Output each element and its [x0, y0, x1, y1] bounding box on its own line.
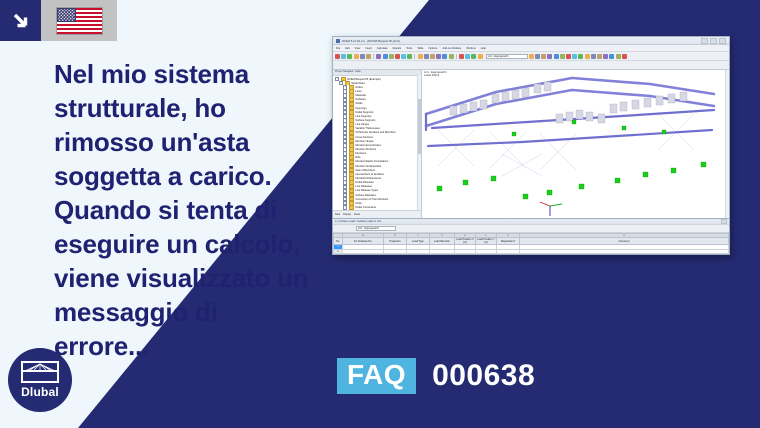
row-header: 3 — [334, 254, 343, 255]
flag-stars — [58, 9, 75, 21]
navigator-tab-views[interactable]: Views — [354, 213, 360, 216]
toolbar-button-4[interactable] — [354, 54, 359, 59]
menu-item-results[interactable]: Results — [393, 47, 402, 50]
node-label: Nodal Constraints — [355, 206, 376, 209]
menu-item-help[interactable]: Help — [481, 47, 486, 50]
toolbar-button-18[interactable] — [449, 54, 454, 59]
toolbar-button-5[interactable] — [360, 54, 365, 59]
toolbar-button-8[interactable] — [383, 54, 388, 59]
node-label: Member Hinges — [355, 140, 373, 143]
node-label: Orthotropic Surfaces and Members — [355, 131, 395, 134]
secondary-toolbar[interactable] — [333, 61, 729, 70]
th-load-direction: Load Direction — [430, 238, 455, 245]
toolbar-button-19[interactable] — [459, 54, 464, 59]
toolbar-button-9[interactable] — [389, 54, 394, 59]
th-load-pos-y: Load Position Y [m] — [476, 238, 497, 245]
toolbar-button-post-13[interactable] — [603, 54, 608, 59]
table-cell[interactable] — [430, 254, 455, 255]
toolbar-button-post-3[interactable] — [541, 54, 546, 59]
node-label: Grids — [355, 202, 361, 205]
toolbar-button-14[interactable] — [424, 54, 429, 59]
dlubal-logo[interactable]: Dlubal — [8, 348, 72, 412]
toolbar-button-post-9[interactable] — [578, 54, 583, 59]
menu-item-file[interactable]: File — [336, 47, 340, 50]
toolbar-button-post-7[interactable] — [566, 54, 571, 59]
toolbar-button-11[interactable] — [401, 54, 406, 59]
menu-item-window[interactable]: Window — [466, 47, 475, 50]
app-body: Project Navigator - Data -RFEM Beispiel … — [333, 70, 729, 218]
navigator-tab-data[interactable]: Data — [335, 213, 340, 216]
menu-item-options[interactable]: Options — [429, 47, 438, 50]
node-label: Surface Supports — [355, 119, 375, 122]
table-title-text: 1.1 Surface Loads / Surface Loads in LC1 — [335, 220, 381, 223]
loads-table[interactable]: A B C D E F G H No. On Surfaces No. Proj… — [333, 233, 729, 255]
navigator-tab-display[interactable]: Display — [343, 213, 351, 216]
node-label: Solids — [355, 102, 362, 105]
menu-item-insert[interactable]: Insert — [365, 47, 372, 50]
dlubal-wordmark: Dlubal — [21, 385, 59, 399]
table-cell[interactable] — [455, 254, 476, 255]
table-cell[interactable] — [384, 254, 407, 255]
node-label: Openings — [355, 107, 366, 110]
toolbar-button-post-1[interactable] — [529, 54, 534, 59]
headline-text: Nel mio sistema strutturale, ho rimosso … — [54, 57, 316, 363]
app-icon — [336, 39, 340, 43]
node-label: Model Data — [351, 82, 364, 85]
app-title-text: RFEM 5.21.02.xxx - [RSTAB Beispiel 05_EC… — [342, 39, 699, 43]
th-no: No. — [334, 238, 343, 245]
node-label: Line Release Types — [355, 189, 378, 192]
language-bar — [0, 0, 117, 41]
toolbar-button-post-16[interactable] — [622, 54, 627, 59]
toolbar-separator — [414, 54, 415, 59]
navigator-scrollbar[interactable] — [417, 75, 421, 211]
node-label: Member Divisions — [355, 148, 376, 151]
node-label: RFEM Beispiel 05 (Example) — [347, 78, 380, 81]
menu-item-view[interactable]: View — [355, 47, 361, 50]
node-label: Line Hinges — [355, 123, 369, 126]
menu-bar[interactable]: File Edit View Insert Calculate Results … — [333, 45, 729, 52]
model-viewport[interactable]: LC1 - Eigengewicht Loads [kN/m] — [422, 70, 729, 218]
table-panel: 1.1 Surface Loads / Surface Loads in LC1… — [333, 218, 729, 255]
toolbar-button-2[interactable] — [341, 54, 346, 59]
node-label: Materials — [355, 94, 366, 97]
menu-item-tools[interactable]: Tools — [406, 47, 412, 50]
th-on-surfaces: On Surfaces No. — [343, 238, 384, 245]
toolbar-button-16[interactable] — [436, 54, 441, 59]
toolbar-button-post-14[interactable] — [609, 54, 614, 59]
node-label: Nodal Supports — [355, 111, 373, 114]
table-cell[interactable] — [497, 254, 520, 255]
software-screenshot: RFEM 5.21.02.xxx - [RSTAB Beispiel 05_EC… — [332, 36, 730, 255]
toolbar-load-case-combo[interactable]: LC1 - Eigengewicht — [356, 226, 396, 231]
node-label: Lines — [355, 90, 361, 93]
toolbar-button-10[interactable] — [395, 54, 400, 59]
faq-badge: FAQ — [337, 358, 416, 394]
th-projection: Projection — [384, 238, 407, 245]
faq-number: 000638 — [432, 359, 535, 393]
toolbar-button-6[interactable] — [366, 54, 371, 59]
th-magnitude: Magnitude P — [497, 238, 520, 245]
table-cell[interactable] — [520, 254, 729, 255]
th-comment: Comment — [520, 238, 729, 245]
table-cell[interactable] — [343, 254, 384, 255]
menu-item-calculate[interactable]: Calculate — [377, 47, 388, 50]
node-label: Surface Releases — [355, 194, 375, 197]
faq-footer: FAQ 000638 — [337, 358, 535, 394]
table-row[interactable]: 3 — [334, 254, 729, 255]
th-load-type: Load Type — [407, 238, 430, 245]
main-toolbar[interactable]: LC1 - Eigengewicht — [333, 52, 729, 61]
toolbar-button-post-15[interactable] — [616, 54, 621, 59]
toolbar-button-3[interactable] — [347, 54, 352, 59]
node-label: Sets of Members — [355, 169, 375, 172]
table-cell[interactable] — [407, 254, 430, 255]
th-load-pos-x: Load Position X [m] — [455, 238, 476, 245]
menu-item-addons[interactable]: Add-on Modules — [442, 47, 461, 50]
toolbar-button-post-11[interactable] — [591, 54, 596, 59]
node-label: Surfaces — [355, 98, 365, 101]
node-label: Nodes — [355, 86, 363, 89]
table-close-icon[interactable] — [721, 219, 727, 224]
navigator-tree[interactable]: -RFEM Beispiel 05 (Example)+Model Data+N… — [333, 76, 421, 218]
toolbar-button-20[interactable] — [465, 54, 470, 59]
window-controls[interactable] — [701, 38, 726, 44]
coordinate-axes — [540, 202, 562, 216]
toolbar-button-12[interactable] — [407, 54, 412, 59]
toolbar-button-post-5[interactable] — [554, 54, 559, 59]
toolbar-separator — [456, 54, 457, 59]
arrow-down-right-icon — [10, 10, 32, 32]
node-label: Member Elastic Foundations — [355, 160, 388, 163]
slide-canvas: Nel mio sistema strutturale, ho rimosso … — [0, 0, 760, 428]
node-label: Cross-Sections — [355, 136, 373, 139]
app-title-bar: RFEM 5.21.02.xxx - [RSTAB Beispiel 05_EC… — [333, 37, 729, 45]
toolbar-button-22[interactable] — [478, 54, 483, 59]
structural-frame-model — [422, 70, 727, 218]
toolbar-button-post-2[interactable] — [535, 54, 540, 59]
table-toolbar[interactable]: LC1 - Eigengewicht — [333, 225, 729, 233]
toolbar-button-post-12[interactable] — [597, 54, 602, 59]
toolbar-load-case-combo[interactable]: LC1 - Eigengewicht — [486, 54, 528, 59]
node-label: Ribs — [355, 156, 360, 159]
node-label: Nodal Releases — [355, 181, 373, 184]
menu-item-edit[interactable]: Edit — [345, 47, 349, 50]
toolbar-button-post-4[interactable] — [547, 54, 552, 59]
toolbar-button-15[interactable] — [430, 54, 435, 59]
node-label: Members — [355, 152, 366, 155]
node-label: Line Supports — [355, 115, 371, 118]
language-flag-button[interactable] — [41, 0, 117, 41]
toolbar-button-1[interactable] — [335, 54, 340, 59]
flag-canton — [57, 8, 76, 22]
node-label: Line Releases — [355, 185, 371, 188]
viewport-scrollbar[interactable] — [725, 70, 729, 218]
toolbar-separator — [373, 54, 374, 59]
toolbar-button-21[interactable] — [471, 54, 476, 59]
menu-item-table[interactable]: Table — [417, 47, 423, 50]
us-flag-icon — [57, 8, 102, 34]
node-label: Intersections of Surfaces — [355, 173, 384, 176]
logo-truss-lines — [21, 361, 59, 383]
toolbar-button-7[interactable] — [376, 54, 381, 59]
table-header-row: No. On Surfaces No. Projection Load Type… — [334, 238, 729, 245]
node-label: Variable Thicknesses — [355, 127, 379, 130]
dlubal-frame-icon — [21, 361, 59, 383]
toolbar-button-post-10[interactable] — [585, 54, 590, 59]
table-cell[interactable] — [476, 254, 497, 255]
toolbar-button-post-8[interactable] — [572, 54, 577, 59]
arrow-down-right-button[interactable] — [0, 0, 41, 41]
project-navigator[interactable]: Project Navigator - Data -RFEM Beispiel … — [333, 70, 422, 218]
node-label: Member Eccentricities — [355, 144, 381, 147]
node-label: FE Mesh Refinements — [355, 177, 381, 180]
toolbar-button-13[interactable] — [418, 54, 423, 59]
table-body[interactable]: 12345 — [334, 245, 729, 256]
node-label: Connection of Two Members — [355, 198, 388, 201]
toolbar-button-17[interactable] — [442, 54, 447, 59]
node-label: Member Nonlinearities — [355, 165, 381, 168]
toolbar-button-post-6[interactable] — [560, 54, 565, 59]
navigator-tabs[interactable]: Data Display Views — [333, 210, 421, 218]
